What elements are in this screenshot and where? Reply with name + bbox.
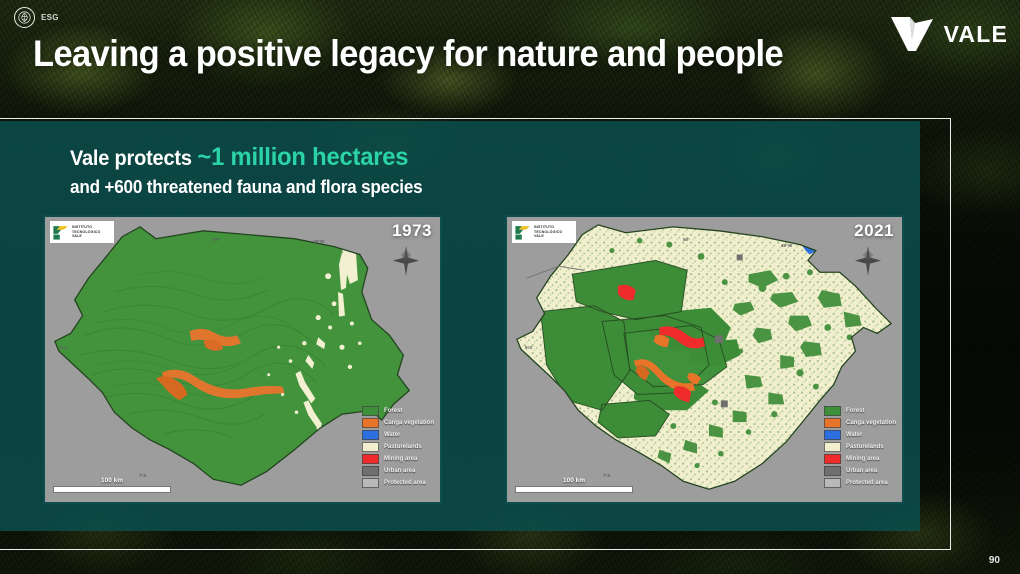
legend-swatch xyxy=(824,418,841,428)
compass-rose-icon xyxy=(392,245,420,277)
map-coord-left-2021: 6°S xyxy=(525,345,532,350)
map-coord-top-left-1973: 50° xyxy=(213,237,220,242)
map-legend-2021: ForestCanga vegetationWaterPasturelandsM… xyxy=(824,406,896,490)
legend-row: Mining area xyxy=(824,454,896,464)
vale-wordmark: VALE xyxy=(944,21,1008,48)
esg-logo: ESG xyxy=(14,7,59,28)
map-year-2021: 2021 xyxy=(854,221,894,241)
legend-row: Water xyxy=(824,430,896,440)
legend-row: Protected area xyxy=(824,478,896,488)
page-number: 90 xyxy=(989,555,1000,566)
kicker-line: Vale protects~1 million hectares xyxy=(70,143,408,172)
esg-label: ESG xyxy=(41,13,59,22)
legend-swatch xyxy=(362,454,379,464)
slide-root: ESG VALE Leaving a positive legacy for n… xyxy=(0,0,1020,574)
legend-row: Mining area xyxy=(362,454,434,464)
legend-swatch xyxy=(824,406,841,416)
scalebar-bar-2021 xyxy=(515,486,633,493)
legend-row: Canga vegetation xyxy=(824,418,896,428)
legend-swatch xyxy=(362,466,379,476)
legend-swatch xyxy=(824,454,841,464)
scalebar-label-2021: 100 km xyxy=(515,477,633,484)
legend-label: Forest xyxy=(384,408,402,414)
subline: and +600 threatened fauna and flora spec… xyxy=(70,177,422,198)
itv-text: INSTITUTO TECNOLÓGICO VALE xyxy=(72,225,100,239)
legend-swatch xyxy=(824,430,841,440)
instituto-tecnologico-vale-badge-2021: INSTITUTO TECNOLÓGICO VALE xyxy=(512,221,576,243)
legend-label: Mining area xyxy=(384,456,417,462)
map-legend-1973: ForestCanga vegetationWaterPasturelandsM… xyxy=(362,406,434,490)
legend-row: Urban area xyxy=(362,466,434,476)
instituto-tecnologico-vale-badge-1973: INSTITUTO TECNOLÓGICO VALE xyxy=(50,221,114,243)
itv-logo-icon xyxy=(52,224,69,241)
legend-label: Canga vegetation xyxy=(846,420,896,426)
map-year-1973: 1973 xyxy=(392,221,432,241)
legend-row: Pasturelands xyxy=(824,442,896,452)
legend-row: Protected area xyxy=(362,478,434,488)
compass-rose-icon xyxy=(854,245,882,277)
itv-logo-icon xyxy=(514,224,531,241)
legend-swatch xyxy=(362,418,379,428)
legend-label: Forest xyxy=(846,408,864,414)
legend-label: Urban area xyxy=(846,468,877,474)
legend-row: Pasturelands xyxy=(362,442,434,452)
legend-row: Water xyxy=(362,430,434,440)
map-card-1973[interactable]: INSTITUTO TECNOLÓGICO VALE 1973 50° 49°W… xyxy=(43,215,442,504)
scalebar-bar-1973 xyxy=(53,486,171,493)
map-card-2021[interactable]: INSTITUTO TECNOLÓGICO VALE 2021 50° 49°W… xyxy=(505,215,904,504)
vale-v-mark-icon xyxy=(889,14,935,54)
legend-row: Urban area xyxy=(824,466,896,476)
legend-row: Forest xyxy=(362,406,434,416)
scalebar-label-1973: 100 km xyxy=(53,477,171,484)
legend-swatch xyxy=(362,406,379,416)
map-coord-top-right-2021: 49°W xyxy=(781,243,792,248)
map-coord-top-right-1973: 49°W xyxy=(313,239,324,244)
legend-row: Canga vegetation xyxy=(362,418,434,428)
legend-row: Forest xyxy=(824,406,896,416)
itv-text: INSTITUTO TECNOLÓGICO VALE xyxy=(534,225,562,239)
legend-label: Water xyxy=(846,432,862,438)
vale-logo: VALE xyxy=(889,14,1008,54)
legend-swatch xyxy=(824,478,841,488)
map-scalebar-2021: 100 km xyxy=(515,486,633,493)
legend-swatch xyxy=(362,442,379,452)
legend-swatch xyxy=(362,478,379,488)
map-coord-left-1973: 6°S xyxy=(60,345,67,350)
legend-label: Canga vegetation xyxy=(384,420,434,426)
legend-label: Protected area xyxy=(384,480,426,486)
legend-label: Pasturelands xyxy=(384,444,422,450)
map-coord-top-left-2021: 50° xyxy=(683,237,690,242)
legend-swatch xyxy=(824,442,841,452)
map-scalebar-1973: 100 km xyxy=(53,486,171,493)
legend-swatch xyxy=(824,466,841,476)
esg-emblem-icon xyxy=(14,7,35,28)
legend-label: Water xyxy=(384,432,400,438)
legend-swatch xyxy=(362,430,379,440)
legend-label: Urban area xyxy=(384,468,415,474)
kicker-highlight: ~1 million hectares xyxy=(197,143,408,171)
kicker-prefix: Vale protects xyxy=(70,147,192,170)
page-title: Leaving a positive legacy for nature and… xyxy=(33,34,783,75)
legend-label: Protected area xyxy=(846,480,888,486)
legend-label: Pasturelands xyxy=(846,444,884,450)
legend-label: Mining area xyxy=(846,456,879,462)
